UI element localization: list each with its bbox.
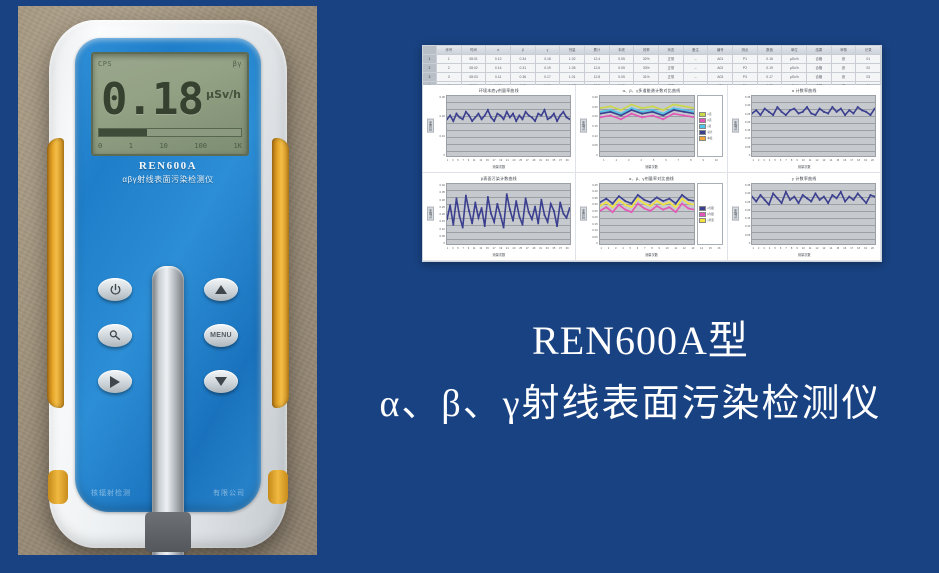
chart-data-point	[649, 205, 650, 207]
table-cell: P2	[733, 64, 758, 72]
chart-data-point	[518, 215, 520, 217]
lcd-scale-tick: 100	[194, 142, 207, 150]
chart-data-point	[452, 224, 454, 226]
chart-series-line	[600, 114, 695, 120]
chart-data-point	[559, 202, 561, 204]
chart-x-tick: 7	[678, 159, 679, 162]
chart-data-point	[643, 207, 644, 209]
table-cell: 12.4	[585, 55, 610, 63]
chart-data-point	[802, 111, 804, 113]
table-cell: 正常	[659, 55, 684, 63]
chart-data-point	[528, 115, 530, 117]
chart-body: 计数率0.350.300.250.200.150.100.050	[732, 95, 876, 157]
chart-x-tick: 11	[809, 159, 812, 162]
chart-body: 计数率0.400.350.300.250.200.150.100.050	[427, 183, 571, 245]
chart-data-point	[853, 199, 855, 201]
chart-x-tick: 20	[871, 159, 874, 162]
chart-y-tick: 0.15	[739, 128, 750, 132]
down-button[interactable]	[204, 370, 238, 393]
chart-data-point	[537, 222, 539, 224]
chart-x-tick: 8	[690, 159, 691, 162]
chart-data-point	[756, 200, 758, 202]
chart-data-point	[537, 113, 539, 115]
chart-data-point	[459, 116, 461, 118]
chart-legend-label: β道	[707, 118, 711, 122]
chart-title: γ 计数率曲线	[732, 176, 876, 182]
chart-x-tick: 27	[526, 247, 529, 250]
chart-y-tick: 0.30	[434, 95, 445, 99]
table-cell: 33%	[634, 64, 659, 72]
chart-data-point	[683, 109, 684, 111]
chart-data-point	[518, 115, 520, 117]
chart-data-point	[764, 199, 766, 201]
chart-data-point	[802, 194, 804, 196]
table-cell: 0.11	[486, 73, 511, 81]
chart-x-tick: 16	[718, 247, 721, 250]
chart-x-axis-title: 测量次数	[427, 252, 571, 258]
chart-data-point	[618, 204, 619, 206]
chart-data-point	[600, 107, 601, 109]
bottom-grip-left	[48, 470, 68, 504]
headline-description: α、β、γ射线表面污染检测仪	[330, 377, 931, 431]
chart-y-tick: 0.10	[739, 224, 750, 228]
chart-legend-label: γ道	[707, 124, 711, 128]
chart-data-point	[643, 199, 644, 201]
chart-data-point	[481, 207, 483, 209]
chart-x-tick: 6	[780, 247, 781, 250]
chart-x-tick: 29	[532, 247, 535, 250]
chart-data-point	[456, 113, 458, 115]
chart-y-tick: 0.25	[739, 112, 750, 116]
chart-y-tick: 0.30	[739, 191, 750, 195]
magnifier-icon	[108, 329, 122, 342]
chart-data-point	[631, 107, 632, 109]
chart-data-point	[849, 196, 851, 198]
side-grip-left	[47, 138, 64, 408]
table-cell: 0.18	[758, 55, 783, 63]
chart-panel[interactable]: 环境本底γ剂量率曲线剂量率0.300.200.10013579111315171…	[423, 85, 576, 173]
chart-data-point	[534, 206, 536, 208]
table-cell: 0.05	[610, 73, 635, 81]
chart-data-point	[853, 112, 855, 114]
chart-data-point	[683, 115, 684, 117]
table-cell: P1	[733, 55, 758, 63]
chart-x-tick: 3	[452, 247, 453, 250]
chart-x-tick: 9	[796, 247, 797, 250]
chart-x-tick: 15	[486, 159, 489, 162]
chart-y-tick: 0.20	[739, 208, 750, 212]
chart-data-point	[694, 204, 695, 206]
triangle-down-icon	[215, 377, 227, 386]
chart-x-tick: 4	[769, 159, 770, 162]
chart-data-point	[556, 120, 558, 122]
chart-y-tick: 0.30	[739, 103, 750, 107]
chart-data-point	[506, 193, 508, 195]
chart-y-axis-title: 计数率	[732, 183, 739, 245]
chart-title: 环境本底γ剂量率曲线	[427, 88, 571, 94]
table-cell: --	[684, 64, 709, 72]
chart-x-tick: 9	[703, 159, 704, 162]
chart-legend-label: β剂量	[707, 212, 714, 216]
chart-legend-swatch	[699, 136, 706, 141]
chart-data-point	[832, 106, 834, 108]
chart-body: 剂量率0.450.400.350.300.250.200.150.100.050…	[580, 183, 724, 245]
triangle-right-icon	[110, 376, 120, 388]
lcd-scale-tick: 1K	[234, 142, 242, 150]
chart-y-ticks: 0.350.300.250.200.150.100.050	[739, 183, 751, 245]
chart-legend-swatch	[699, 112, 706, 117]
chart-x-tick: 2	[616, 159, 617, 162]
chart-data-point	[811, 200, 813, 202]
chart-data-point	[662, 109, 663, 111]
chart-data-point	[694, 116, 695, 118]
chart-x-tick: 11	[473, 247, 476, 250]
chart-data-point	[652, 105, 653, 107]
chart-data-point	[683, 105, 684, 107]
chart-data-point	[649, 210, 650, 212]
chart-y-tick: 0.30	[587, 95, 598, 99]
chart-data-point	[631, 113, 632, 115]
chart-legend-swatch	[699, 218, 706, 223]
chart-data-point	[840, 108, 842, 110]
chart-data-point	[462, 226, 464, 228]
chart-x-ticks: 13579111315171921232527293133353739	[427, 245, 571, 252]
chart-series-line	[600, 195, 695, 204]
chart-data-point	[610, 115, 611, 117]
chart-x-tick: 11	[473, 159, 476, 162]
chart-data-point	[866, 202, 868, 204]
chart-data-point	[687, 203, 688, 205]
chart-x-tick: 25	[519, 159, 522, 162]
chart-data-point	[459, 215, 461, 217]
table-corner-cell	[423, 46, 437, 54]
chart-data-point	[600, 205, 601, 207]
chart-title: α、β、γ多道能谱计数对比曲线	[580, 88, 724, 94]
chart-data-point	[468, 115, 470, 117]
chart-data-point	[668, 201, 669, 203]
table-row-header: 2	[423, 64, 437, 72]
chart-data-point	[781, 202, 783, 204]
table-cell: 0.14	[486, 64, 511, 72]
chart-x-axis-title: 测量次数	[427, 164, 571, 170]
chart-x-tick: 10	[802, 247, 805, 250]
chart-data-point	[522, 224, 524, 226]
chart-data-point	[490, 213, 492, 215]
chart-x-tick: 13	[479, 159, 482, 162]
chart-data-point	[478, 113, 480, 115]
chart-data-point	[509, 116, 511, 118]
headline-block: REN600A型 α、β、γ射线表面污染检测仪	[330, 315, 931, 431]
chart-x-tick: 37	[559, 247, 562, 250]
table-column-header: 单位	[782, 46, 807, 54]
table-cell: 31%	[634, 73, 659, 81]
table-row-header: 1	[423, 55, 437, 63]
chart-data-point	[641, 113, 642, 115]
up-button[interactable]	[204, 278, 238, 301]
table-cell: A03	[708, 73, 733, 81]
chart-x-tick: 21	[506, 247, 509, 250]
table-cell: 0.12	[486, 55, 511, 63]
chart-y-tick: 0.35	[434, 190, 445, 194]
chart-x-tick: 2	[758, 247, 759, 250]
chart-x-tick: 27	[526, 159, 529, 162]
chart-data-point	[612, 206, 613, 208]
chart-data-point	[500, 115, 502, 117]
chart-data-point	[531, 218, 533, 220]
chart-y-ticks: 0.300.250.200.150.100.050	[587, 95, 599, 157]
table-cell: μSv/h	[782, 55, 807, 63]
chart-data-point	[449, 204, 451, 206]
chart-y-axis-title: 计数率	[427, 183, 434, 245]
chart-x-tick: 17	[850, 247, 853, 250]
chart-data-point	[528, 211, 530, 213]
chart-x-tick: 8	[791, 247, 792, 250]
chart-x-tick: 11	[674, 247, 677, 250]
chart-x-tick: 16	[843, 247, 846, 250]
table-row[interactable]: 2208:020.140.310.191.0512.60.0533%正常--A0…	[423, 64, 881, 73]
table-column-header: 编号	[708, 46, 733, 54]
table-cell: 0.34	[511, 55, 536, 63]
chart-data-point	[474, 202, 476, 204]
table-cell: 正常	[659, 64, 684, 72]
chart-x-axis-title: 测量次数	[732, 252, 876, 258]
chart-x-tick: 3	[615, 247, 616, 250]
chart-data-point	[785, 114, 787, 116]
chart-data-point	[624, 200, 625, 202]
table-column-header: 记录	[856, 46, 881, 54]
table-cell: 0.31	[511, 64, 536, 72]
lcd-scale-tick: 10	[159, 142, 167, 150]
chart-data-point	[845, 200, 847, 202]
play-button[interactable]	[98, 370, 132, 393]
chart-y-tick: 0.35	[587, 196, 598, 200]
chart-data-point	[506, 111, 508, 113]
chart-x-tick: 19	[499, 247, 502, 250]
chart-x-tick: 11	[809, 247, 812, 250]
chart-data-point	[600, 116, 601, 118]
table-cell: A01	[708, 55, 733, 63]
probe-connector	[145, 512, 191, 552]
chart-y-tick: 0.05	[587, 235, 598, 239]
table-cell: μSv/h	[782, 73, 807, 81]
chart-legend-item: γ剂量	[699, 218, 721, 223]
chart-data-point	[503, 226, 505, 228]
chart-y-tick: 0.15	[587, 124, 598, 128]
chart-data-point	[540, 199, 542, 201]
faceplate-footer-right: 有限公司	[213, 488, 245, 498]
table-cell: 08:01	[462, 55, 487, 63]
chart-data-point	[487, 196, 489, 198]
table-cell: --	[684, 55, 709, 63]
chart-data-point	[874, 108, 875, 110]
chart-x-tick: 10	[802, 159, 805, 162]
table-cell: 12.8	[585, 73, 610, 81]
table-cell: 0.05	[610, 55, 635, 63]
chart-data-point	[673, 104, 674, 106]
chart-x-tick: 18	[857, 159, 860, 162]
table-column-header: 测点	[733, 46, 758, 54]
chart-data-point	[777, 197, 779, 199]
table-column-header: 结果	[807, 46, 832, 54]
chart-plot-area	[599, 95, 696, 157]
chart-data-point	[478, 217, 480, 219]
chart-x-tick: 1	[752, 159, 753, 162]
chart-data-point	[553, 113, 555, 115]
chart-data-point	[531, 116, 533, 118]
chart-data-point	[456, 198, 458, 200]
chart-data-point	[631, 104, 632, 106]
chart-x-tick: 1	[603, 159, 604, 162]
chart-x-tick: 10	[666, 247, 669, 250]
chart-x-tick: 37	[559, 159, 562, 162]
chart-x-tick: 17	[493, 159, 496, 162]
chart-data-point	[845, 114, 847, 116]
chart-data-point	[496, 203, 498, 205]
chart-y-tick: 0.05	[739, 233, 750, 237]
table-column-header: 时间	[462, 46, 487, 54]
chart-x-tick: 2	[608, 247, 609, 250]
chart-data-point	[641, 111, 642, 113]
table-cell: P3	[733, 73, 758, 81]
table-cell: 0.18	[536, 55, 561, 63]
chart-data-point	[773, 114, 775, 116]
chart-data-point	[515, 120, 517, 122]
chart-data-point	[870, 114, 872, 116]
chart-data-point	[493, 221, 495, 223]
chart-panel[interactable]: γ 计数率曲线计数率0.350.300.250.200.150.100.0501…	[728, 173, 881, 261]
chart-data-point	[681, 203, 682, 205]
faceplate-footer-left: 核辐射检测	[91, 488, 131, 498]
table-row[interactable]: 1108:010.120.340.181.0212.40.0532%正常--A0…	[423, 55, 881, 64]
chart-data-point	[631, 206, 632, 208]
chart-y-tick: 0.05	[587, 143, 598, 147]
chart-x-tick: 7	[785, 247, 786, 250]
table-cell: 0.17	[536, 73, 561, 81]
chart-data-point	[828, 202, 830, 204]
chart-data-point	[618, 195, 619, 197]
chart-data-point	[815, 193, 817, 195]
table-cell: 3	[437, 73, 462, 81]
chart-data-point	[490, 116, 492, 118]
triangle-up-icon	[215, 285, 227, 294]
lcd-reading: 0.18 μSv/h	[101, 72, 243, 128]
lcd-scale: 01101001K	[98, 140, 242, 152]
chart-data-point	[447, 218, 448, 220]
chart-data-point	[547, 118, 549, 120]
chart-data-point	[512, 220, 514, 222]
search-button[interactable]	[98, 324, 132, 347]
chart-data-point	[452, 120, 454, 122]
chart-data-point	[687, 207, 688, 209]
table-row[interactable]: 3308:030.110.360.171.0112.80.0531%正常--A0…	[423, 73, 881, 82]
table-column-header: 审核	[832, 46, 857, 54]
chart-x-tick: 35	[552, 159, 555, 162]
chart-x-tick: 15	[836, 247, 839, 250]
chart-legend-item: γ道	[699, 124, 721, 129]
device-branding: REN600A αβγ射线表面污染检测仪	[75, 160, 261, 185]
chart-data-point	[790, 109, 792, 111]
chart-y-tick: 0.25	[434, 205, 445, 209]
table-cell: μSv/h	[782, 64, 807, 72]
chart-x-tick: 19	[499, 159, 502, 162]
chart-data-point	[509, 209, 511, 211]
lcd-status-right: βγ	[233, 60, 242, 68]
chart-data-point	[687, 199, 688, 201]
chart-data-point	[756, 109, 758, 111]
chart-legend-label: γ剂量	[707, 218, 713, 222]
chart-data-point	[652, 115, 653, 117]
table-cell: 08:03	[462, 73, 487, 81]
chart-legend-swatch	[699, 124, 706, 129]
chart-y-ticks: 0.350.300.250.200.150.100.050	[739, 95, 751, 157]
chart-x-tick: 4	[769, 247, 770, 250]
table-cell: 0.19	[536, 64, 561, 72]
chart-data-point	[752, 196, 753, 198]
chart-data-point	[662, 204, 663, 206]
chart-data-point	[449, 115, 451, 117]
chart-data-point	[612, 203, 613, 205]
chart-x-tick: 14	[829, 159, 832, 162]
chart-y-ticks: 0.400.350.300.250.200.150.100.050	[434, 183, 446, 245]
chart-panel[interactable]: β表面污染计数曲线计数率0.400.350.300.250.200.150.10…	[423, 173, 576, 261]
chart-series-line	[752, 192, 875, 205]
chart-panel[interactable]: α、β、γ多道能谱计数对比曲线计数率0.300.250.200.150.100.…	[576, 85, 729, 173]
chart-data-point	[515, 200, 517, 202]
chart-data-point	[643, 203, 644, 205]
chart-data-point	[675, 206, 676, 208]
table-cell: 01	[856, 55, 881, 63]
chart-y-tick: 0.25	[587, 209, 598, 213]
chart-legend-item: β道	[699, 118, 721, 123]
chart-panel[interactable]: α 计数率曲线计数率0.350.300.250.200.150.100.0501…	[728, 85, 881, 173]
chart-x-tick: 12	[816, 247, 819, 250]
chart-x-tick: 7	[644, 247, 645, 250]
chart-x-tick: 5	[774, 159, 775, 162]
chart-data-point	[631, 109, 632, 111]
chart-plot-area	[751, 95, 876, 157]
table-row-header: 3	[423, 73, 437, 81]
chart-title: α 计数率曲线	[732, 88, 876, 94]
chart-data-point	[673, 107, 674, 109]
chart-x-tick: 9	[468, 247, 469, 250]
table-cell: 0.19	[758, 64, 783, 72]
chart-y-tick: 0.25	[739, 200, 750, 204]
chart-data-point	[668, 198, 669, 200]
chart-data-point	[823, 111, 825, 113]
chart-data-point	[484, 225, 486, 227]
table-header-row: 序号时间αβγ剂量累计本底效率状态备注编号测点数值单位结果审核记录	[423, 46, 881, 55]
chart-data-point	[798, 202, 800, 204]
chart-panel[interactable]: α、β、γ剂量率对比曲线剂量率0.450.400.350.300.250.200…	[576, 173, 729, 261]
chart-data-point	[620, 113, 621, 115]
chart-data-point	[819, 199, 821, 201]
chart-x-tick: 12	[683, 247, 686, 250]
chart-x-tick: 5	[457, 247, 458, 250]
table-column-header: 累计	[585, 46, 610, 54]
chart-x-ticks: 1234567891011121314151617181920	[732, 245, 876, 252]
side-grip-right	[272, 138, 289, 408]
menu-button[interactable]: MENU	[204, 324, 238, 347]
chart-x-tick: 31	[539, 159, 542, 162]
power-button[interactable]	[98, 278, 132, 301]
chart-legend-item: 本底	[699, 136, 721, 141]
chart-data-point	[662, 118, 663, 120]
chart-legend-item: 总计	[699, 130, 721, 135]
table-cell: 张	[832, 64, 857, 72]
chart-y-tick: 0.35	[739, 95, 750, 99]
chart-x-tick: 20	[871, 247, 874, 250]
table-cell: 03	[856, 73, 881, 81]
